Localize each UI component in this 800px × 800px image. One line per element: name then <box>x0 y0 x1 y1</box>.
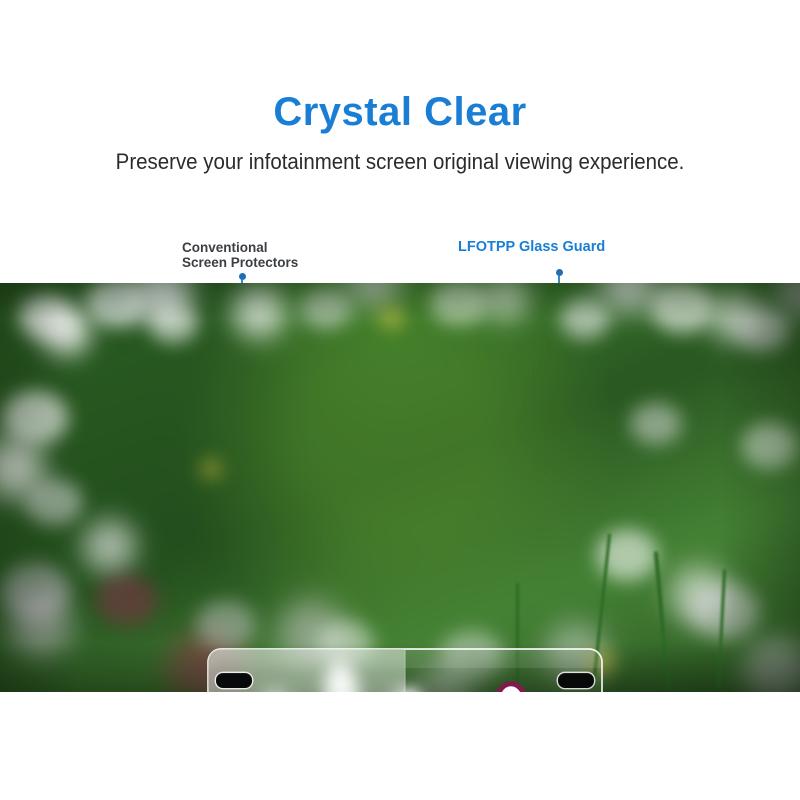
photo-vignette <box>0 283 800 692</box>
page-subtitle: Preserve your infotainment screen origin… <box>28 150 772 174</box>
callout-lfotpp: LFOTPP Glass Guard <box>458 240 605 255</box>
screen-protector-overlay <box>207 648 603 692</box>
protector-slot <box>558 673 594 688</box>
callout-lfotpp-label: LFOTPP Glass Guard <box>458 240 605 255</box>
protector-slot <box>216 673 252 688</box>
meadow-photo <box>0 283 800 692</box>
callout-conventional-line2: Screen Protectors <box>182 255 298 270</box>
callout-conventional-line1: Conventional <box>182 240 298 255</box>
page-title: Crystal Clear <box>0 92 800 132</box>
callout-conventional: Conventional Screen Protectors <box>182 240 298 270</box>
product-marketing-image: Crystal Clear Preserve your infotainment… <box>0 0 800 800</box>
